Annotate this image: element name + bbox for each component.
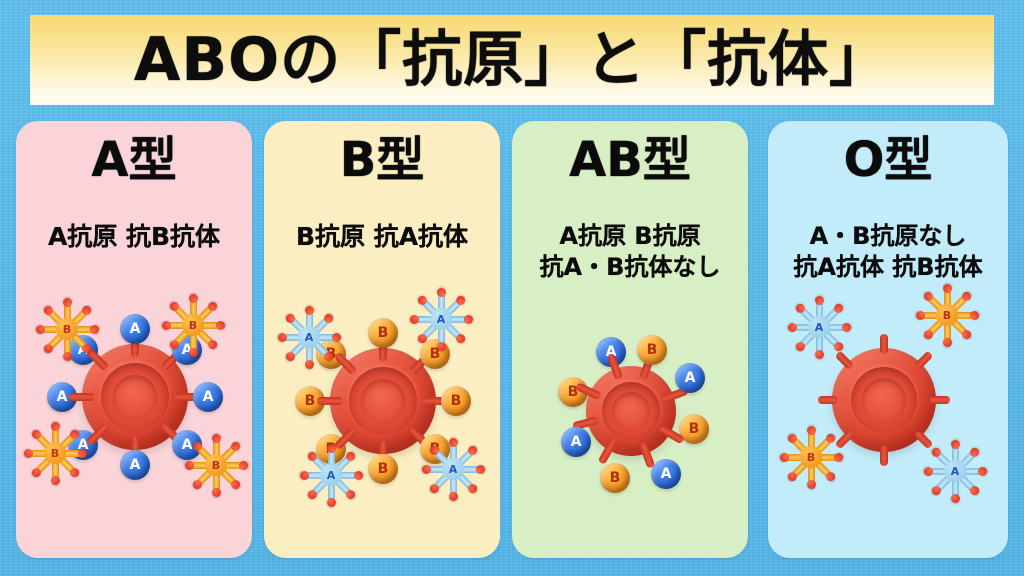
card-type-a[interactable]: A型 A抗原 抗B抗体 A A A (16, 121, 252, 558)
illustration-type-o: A B B A (768, 286, 1008, 556)
card-line: B抗原 抗A抗体 (270, 221, 494, 253)
antibody-core-a: A (298, 326, 320, 348)
antibody-icon-a: A (404, 282, 478, 356)
card-title-a: A型 (16, 135, 252, 185)
antigen-cap-a: A (120, 450, 150, 480)
antibody-icon-b: B (774, 420, 848, 494)
antigen-cap-b: B (368, 318, 398, 348)
antigen-cap-a: A (120, 314, 150, 344)
antibody-core-b: B (936, 304, 958, 326)
card-line: 抗A・B抗体なし (518, 252, 742, 283)
card-description-b: B抗原 抗A抗体 (270, 221, 494, 253)
antigen-cap-b: B (441, 386, 471, 416)
antibody-core-a: A (944, 460, 966, 482)
antibody-core-a: A (430, 308, 452, 330)
antigen-cap-a: A (651, 459, 681, 489)
illustration-type-ab: A B B A B (512, 286, 748, 556)
antibody-icon-b: B (156, 288, 230, 362)
card-line: A・B抗原なし (774, 221, 1002, 252)
antibody-icon-a: A (272, 300, 346, 374)
card-title-o: O型 (768, 135, 1008, 185)
card-type-ab[interactable]: AB型 A抗原 B抗原 抗A・B抗体なし A B B (512, 121, 748, 558)
antibody-icon-b: B (179, 428, 252, 502)
antigen-cap-b: B (637, 335, 667, 365)
antibody-core-b: B (56, 318, 78, 340)
antibody-core-a: A (808, 316, 830, 338)
antibody-core-b: B (800, 446, 822, 468)
card-type-b[interactable]: B型 B抗原 抗A抗体 B B B (264, 121, 500, 558)
antibody-core-b: B (44, 442, 66, 464)
card-title-ab: AB型 (512, 135, 748, 185)
card-line: A抗原 抗B抗体 (22, 221, 246, 253)
blood-type-card-grid: A型 A抗原 抗B抗体 A A A (0, 121, 1024, 561)
title-banner: ABOの「抗原」と「抗体」 (30, 15, 994, 105)
card-line: A抗原 B抗原 (518, 221, 742, 252)
antibody-icon-a: A (918, 434, 992, 508)
antibody-core-a: A (442, 458, 464, 480)
antibody-icon-a: A (782, 290, 856, 364)
card-description-a: A抗原 抗B抗体 (22, 221, 246, 253)
antibody-icon-a: A (294, 438, 368, 512)
antigen-cap-a: A (675, 363, 705, 393)
card-type-o[interactable]: O型 A・B抗原なし 抗A抗体 抗B抗体 (768, 121, 1008, 558)
antigen-cap-b: B (600, 463, 630, 493)
cell-dimple-inner (862, 378, 906, 422)
antibody-icon-b: B (30, 292, 104, 366)
antigen-cap-b: B (368, 454, 398, 484)
antibody-icon-b: B (18, 416, 92, 490)
antibody-core-b: B (205, 454, 227, 476)
illustration-type-a: A A A A A (16, 286, 252, 556)
cell-dimple-inner (612, 392, 650, 430)
page-title: ABOの「抗原」と「抗体」 (134, 30, 890, 90)
antibody-core-a: A (320, 464, 342, 486)
card-description-o: A・B抗原なし 抗A抗体 抗B抗体 (774, 221, 1002, 282)
illustration-type-b: B B B B B (264, 286, 500, 556)
card-title-b: B型 (264, 135, 500, 185)
antigen-cap-a: A (193, 382, 223, 412)
red-blood-cell-icon (586, 366, 676, 456)
antibody-icon-a: A (416, 432, 490, 506)
antibody-icon-b: B (910, 278, 984, 352)
antibody-core-b: B (182, 314, 204, 336)
antigen-cap-a: A (561, 427, 591, 457)
card-description-ab: A抗原 B抗原 抗A・B抗体なし (518, 221, 742, 282)
